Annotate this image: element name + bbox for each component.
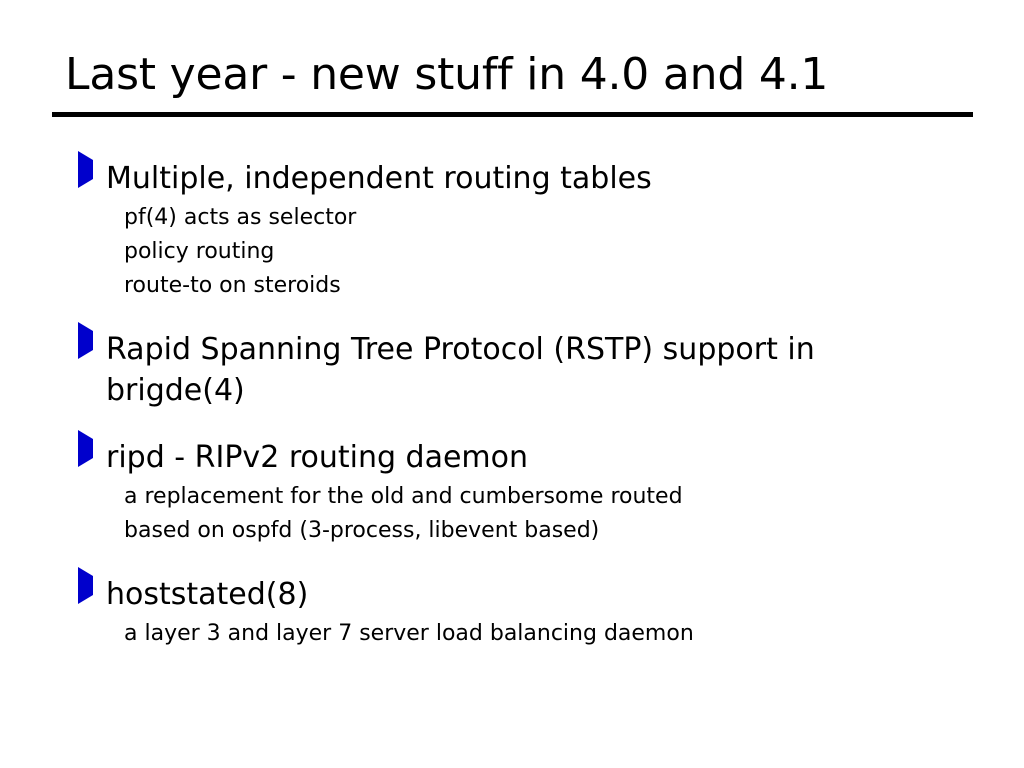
bullet-level2: a replacement for the old and cumbersome… [78,480,978,514]
triangle-bullet-icon [78,437,106,449]
dot-bullet-icon [105,480,124,493]
bullet-level2: a layer 3 and layer 7 server load balanc… [78,617,978,651]
bullet-level2: route-to on steroids [78,269,978,303]
bullet-level1: Rapid Spanning Tree Protocol (RSTP) supp… [78,329,978,411]
triangle-bullet-icon [78,329,106,341]
bullet-group: Rapid Spanning Tree Protocol (RSTP) supp… [78,329,978,411]
bullet-level2: pf(4) acts as selector [78,201,978,235]
bullet-level2-label: route-to on steroids [124,269,978,303]
bullet-level1-label: ripd - RIPv2 routing daemon [106,437,906,478]
sub-bullet-list: pf(4) acts as selector policy routing ro… [78,201,978,303]
bullet-level1: Multiple, independent routing tables [78,158,978,199]
bullet-level1-label: hoststated(8) [106,574,906,615]
bullet-group: ripd - RIPv2 routing daemon a replacemen… [78,437,978,548]
bullet-level1: hoststated(8) [78,574,978,615]
bullet-level2-label: a replacement for the old and cumbersome… [124,480,978,514]
slide-body: Multiple, independent routing tables pf(… [78,158,978,651]
bullet-group: Multiple, independent routing tables pf(… [78,158,978,303]
bullet-level2: policy routing [78,235,978,269]
dot-bullet-icon [105,235,124,248]
title-underline-rule [52,112,973,117]
bullet-level1-label: Rapid Spanning Tree Protocol (RSTP) supp… [106,329,906,411]
dot-bullet-icon [105,617,124,630]
bullet-level1: ripd - RIPv2 routing daemon [78,437,978,478]
bullet-level2-label: policy routing [124,235,978,269]
bullet-level2-label: a layer 3 and layer 7 server load balanc… [124,617,978,651]
bullet-group: hoststated(8) a layer 3 and layer 7 serv… [78,574,978,651]
dot-bullet-icon [105,269,124,282]
bullet-level2-label: pf(4) acts as selector [124,201,978,235]
page-title: Last year - new stuff in 4.0 and 4.1 [52,48,973,102]
sub-bullet-list: a replacement for the old and cumbersome… [78,480,978,548]
sub-bullet-list: a layer 3 and layer 7 server load balanc… [78,617,978,651]
bullet-level2: based on ospfd (3-process, libevent base… [78,514,978,548]
dot-bullet-icon [105,514,124,527]
dot-bullet-icon [105,201,124,214]
bullet-level2-label: based on ospfd (3-process, libevent base… [124,514,978,548]
triangle-bullet-icon [78,158,106,170]
presentation-slide: Last year - new stuff in 4.0 and 4.1 Mul… [0,0,1024,768]
title-block: Last year - new stuff in 4.0 and 4.1 [52,48,973,117]
triangle-bullet-icon [78,574,106,586]
bullet-level1-label: Multiple, independent routing tables [106,158,906,199]
